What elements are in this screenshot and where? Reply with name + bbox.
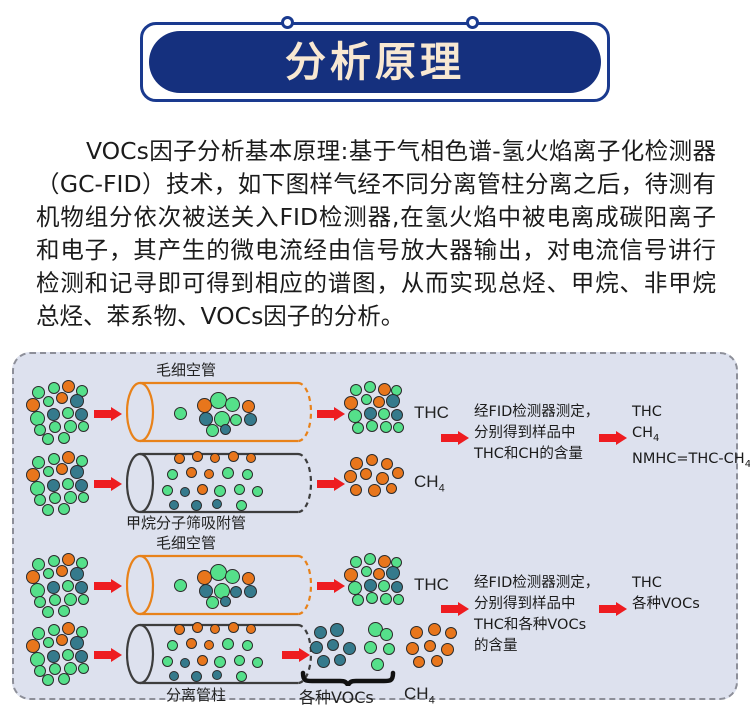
output-label-ch4-2: CH4 (404, 684, 435, 706)
label-capillary-bottom: 毛细空管 (156, 532, 216, 553)
label-separation-column: 分离管柱 (166, 684, 226, 705)
label-various-vocs: 各种VOCs (299, 684, 374, 708)
explanation-top-right-line2: CH4 (632, 423, 750, 449)
explanation-top-left-line1: 经FID检测器测定， (474, 402, 599, 423)
page-title: 分析原理 (285, 42, 465, 83)
banner-inner-pill: 分析原理 (149, 31, 601, 93)
intro-paragraph: VOCs因子分析基本原理:基于气相色谱-氢火焰离子化检测器（GC-FID）技术，… (36, 135, 716, 333)
label-methane-sieve: 甲烷分子筛吸附管 (126, 512, 246, 533)
explanation-bottom-left-line3: THC和各种VOCs (474, 615, 599, 636)
arrow-explain-bottom-1-icon (441, 602, 469, 616)
explanation-bottom-right-line1: THC (632, 573, 700, 594)
explanation-top-left-line3: THC和CH的含量 (474, 444, 599, 465)
explanation-bottom-right: THC 各种VOCs (632, 573, 700, 615)
explanation-bottom-left: 经FID检测器测定， 分别得到样品中 THC和各种VOCs 的含量 (474, 573, 599, 657)
arrow-explain-top-2-icon (599, 431, 627, 445)
explanation-top-left: 经FID检测器测定， 分别得到样品中 THC和CH的含量 (474, 402, 599, 465)
explanation-top-right: THC CH4 NMHC=THC-CH4 (632, 402, 750, 475)
banner-hanger-ring-left-icon (281, 16, 294, 29)
arrow-output-3-icon (317, 579, 345, 593)
arrow-output-4-icon (282, 648, 310, 662)
arrow-input-2-icon (94, 477, 122, 491)
paragraph-text: VOCs因子分析基本原理:基于气相色谱-氢火焰离子化检测器（GC-FID）技术，… (36, 137, 716, 330)
explanation-bottom-right-line2: 各种VOCs (632, 594, 700, 615)
arrow-input-1-icon (94, 407, 122, 421)
output-label-ch4-1: CH4 (414, 472, 445, 494)
arrow-explain-bottom-2-icon (599, 602, 627, 616)
output-label-thc-2: THC (414, 575, 449, 595)
label-capillary-top: 毛细空管 (156, 359, 216, 380)
diagram-stage: 毛细空管 (14, 354, 736, 698)
explanation-bottom-left-line2: 分别得到样品中 (474, 594, 599, 615)
explanation-top-right-line1: THC (632, 402, 750, 423)
arrow-input-3-icon (94, 579, 122, 593)
explanation-top-right-line3: NMHC=THC-CH4 (632, 449, 750, 475)
arrow-input-4-icon (94, 648, 122, 662)
page-title-banner: 分析原理 (140, 22, 610, 102)
arrow-explain-top-1-icon (441, 431, 469, 445)
output-label-thc-1: THC (414, 403, 449, 423)
analysis-principle-diagram-panel: 毛细空管 (12, 352, 738, 700)
explanation-top-left-line2: 分别得到样品中 (474, 423, 599, 444)
explanation-bottom-left-line4: 的含量 (474, 636, 599, 657)
explanation-bottom-left-line1: 经FID检测器测定， (474, 573, 599, 594)
arrow-output-2-icon (317, 477, 345, 491)
banner-hanger-ring-right-icon (466, 16, 479, 29)
arrow-output-1-icon (317, 407, 345, 421)
